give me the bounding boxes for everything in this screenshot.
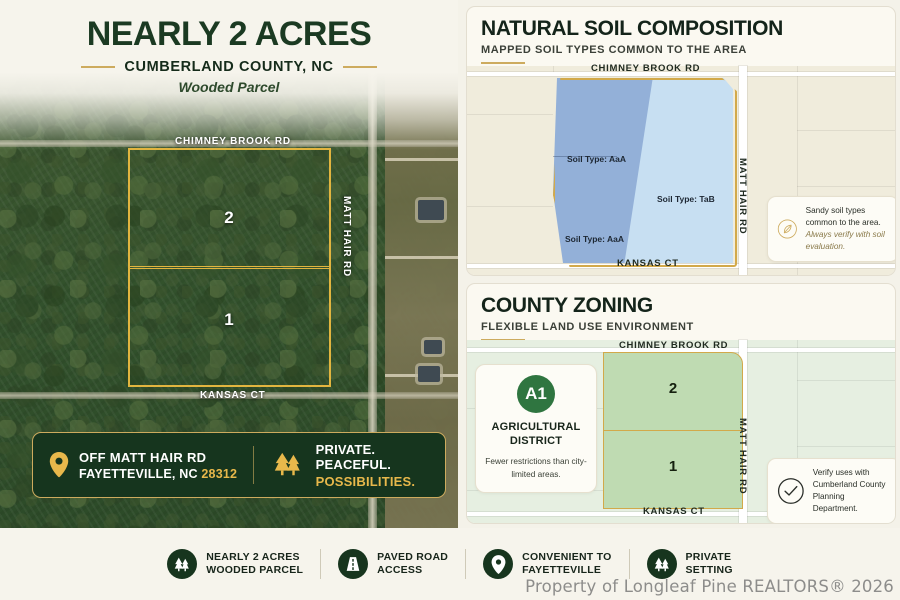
soil-panel-subtitle: MAPPED SOIL TYPES COMMON TO THE AREA [481, 44, 895, 56]
soil-callout: Sandy soil types common to the area. Alw… [767, 196, 896, 262]
soil-callout-italic: Always verify with soil evaluation. [806, 229, 889, 253]
pine-trees-icon [167, 549, 197, 579]
feature-item-acreage: NEARLY 2 ACRESWOODED PARCEL [150, 549, 320, 579]
address-bar: OFF MATT HAIR RD FAYETTEVILLE, NC 28312 … [32, 432, 446, 498]
soil-road-label-kansas-ct: KANSAS CT [617, 258, 679, 269]
slogan-text: PRIVATE. PEACEFUL. POSSIBILITIES. [316, 442, 445, 489]
address-block: OFF MATT HAIR RD FAYETTEVILLE, NC 28312 [33, 450, 253, 481]
zip-code: 28312 [201, 467, 237, 481]
county-subtitle: CUMBERLAND COUNTY, NC [0, 59, 458, 75]
zoning-callout-line3: Planning Department. [813, 492, 858, 513]
address-line2: FAYETTEVILLE, NC 28312 [79, 467, 237, 481]
road-icon [338, 549, 368, 579]
watermark: Property of Longleaf Pine REALTORS® 2026 [525, 577, 894, 596]
feature-label: PAVED ROADACCESS [377, 551, 448, 578]
soil-label-tab: Soil Type: TaB [657, 194, 715, 204]
listing-flyer: NEARLY 2 ACRES CUMBERLAND COUNTY, NC Woo… [0, 0, 900, 600]
soil-label-lower-aaa: Soil Type: AaA [565, 234, 624, 244]
parcel-number-2: 2 [0, 208, 458, 228]
soil-map: Soil Type: AaA Soil Type: AaA Soil Type:… [467, 66, 895, 275]
map-gridline [797, 446, 895, 447]
neighbor-house [418, 366, 440, 382]
aerial-photo-panel: NEARLY 2 ACRES CUMBERLAND COUNTY, NC Woo… [0, 0, 458, 528]
parcel-number-1: 1 [0, 310, 458, 330]
feature-label: PRIVATESETTING [686, 551, 733, 578]
feature-label: CONVENIENT TOFAYETTEVILLE [522, 551, 611, 578]
zoning-map: 2 1 CHIMNEY BROOK RD KANSAS CT MATT HAIR… [467, 340, 895, 523]
soil-callout-line1: Sandy soil types [806, 206, 866, 215]
neighbor-house [424, 340, 442, 354]
soil-road-label-chimney-brook: CHIMNEY BROOK RD [591, 63, 700, 74]
map-pin-icon [49, 452, 69, 478]
zoning-panel-title: COUNTY ZONING [481, 294, 895, 318]
map-gridline [797, 130, 895, 131]
rule-left [81, 66, 115, 68]
map-gridline [467, 114, 553, 115]
parcel-outlines [128, 148, 331, 384]
feature-item-road: PAVED ROADACCESS [321, 549, 465, 579]
rule-right [343, 66, 377, 68]
map-gridline [467, 206, 553, 207]
pine-trees-icon [647, 549, 677, 579]
zoning-callout-text: Verify uses with Cumberland County Plann… [813, 467, 891, 515]
aerial-road-label-kansas-ct: KANSAS CT [200, 390, 266, 401]
page-title: NEARLY 2 ACRES [0, 14, 458, 54]
zoning-callout-line1: Verify uses with [813, 468, 870, 477]
slogan-line1: PRIVATE. PEACEFUL. [316, 442, 445, 472]
aerial-road-label-matt-hair: MATT HAIR RD [341, 196, 352, 277]
soil-label-upper-aaa: Soil Type: AaA [567, 154, 626, 164]
map-gridline [797, 186, 895, 187]
zoning-parcel-number-2: 2 [603, 380, 743, 397]
address-text: OFF MATT HAIR RD FAYETTEVILLE, NC 28312 [79, 450, 237, 481]
address-line1: OFF MATT HAIR RD [79, 450, 237, 465]
zoning-callout-line2: Cumberland County [813, 480, 886, 489]
leaf-icon [777, 214, 798, 244]
zoning-code-circle: A1 [517, 375, 555, 413]
soil-panel-header: NATURAL SOIL COMPOSITION MAPPED SOIL TYP… [467, 7, 895, 64]
soil-callout-line2: common to the area. [806, 218, 881, 227]
zoning-district-name: AGRICULTURALDISTRICT [484, 420, 588, 448]
county-label: CUMBERLAND COUNTY, NC [124, 59, 333, 75]
gold-rule [481, 62, 525, 64]
feature-item-private: PRIVATESETTING [630, 549, 750, 579]
tagline: Wooded Parcel [0, 79, 458, 95]
soil-road-label-matt-hair: MATT HAIR RD [737, 158, 748, 234]
slogan-block: PRIVATE. PEACEFUL. POSSIBILITIES. [254, 442, 445, 489]
map-pin-icon [483, 549, 513, 579]
soil-callout-text: Sandy soil types common to the area. Alw… [806, 205, 889, 253]
zoning-note: Fewer restrictions than city-limited are… [484, 455, 588, 480]
county-zoning-panel: COUNTY ZONING FLEXIBLE LAND USE ENVIRONM… [466, 283, 896, 524]
map-gridline [797, 380, 895, 381]
zoning-panel-subtitle: FLEXIBLE LAND USE ENVIRONMENT [481, 321, 895, 333]
zoning-road-label-matt-hair: MATT HAIR RD [737, 418, 748, 494]
zoning-panel-header: COUNTY ZONING FLEXIBLE LAND USE ENVIRONM… [467, 284, 895, 341]
zoning-parcel-number-1: 1 [603, 458, 743, 475]
zoning-road-label-chimney-brook: CHIMNEY BROOK RD [619, 340, 728, 351]
pine-trees-icon [272, 450, 304, 480]
zoning-parcel-outlines: 2 1 [603, 352, 743, 507]
soil-composition-panel: NATURAL SOIL COMPOSITION MAPPED SOIL TYP… [466, 6, 896, 276]
aerial-road-label-chimney-brook: CHIMNEY BROOK RD [175, 136, 291, 147]
slogan-line2: POSSIBILITIES. [316, 474, 445, 489]
flyer-header: NEARLY 2 ACRES CUMBERLAND COUNTY, NC Woo… [0, 14, 458, 95]
zoning-road-label-kansas-ct: KANSAS CT [643, 506, 705, 517]
zoning-badge: A1 AGRICULTURALDISTRICT Fewer restrictio… [475, 364, 597, 493]
check-circle-icon [777, 477, 805, 505]
soil-panel-title: NATURAL SOIL COMPOSITION [481, 17, 895, 41]
zoning-callout: Verify uses with Cumberland County Plann… [767, 458, 896, 524]
feature-item-location: CONVENIENT TOFAYETTEVILLE [466, 549, 628, 579]
feature-label: NEARLY 2 ACRESWOODED PARCEL [206, 551, 303, 578]
